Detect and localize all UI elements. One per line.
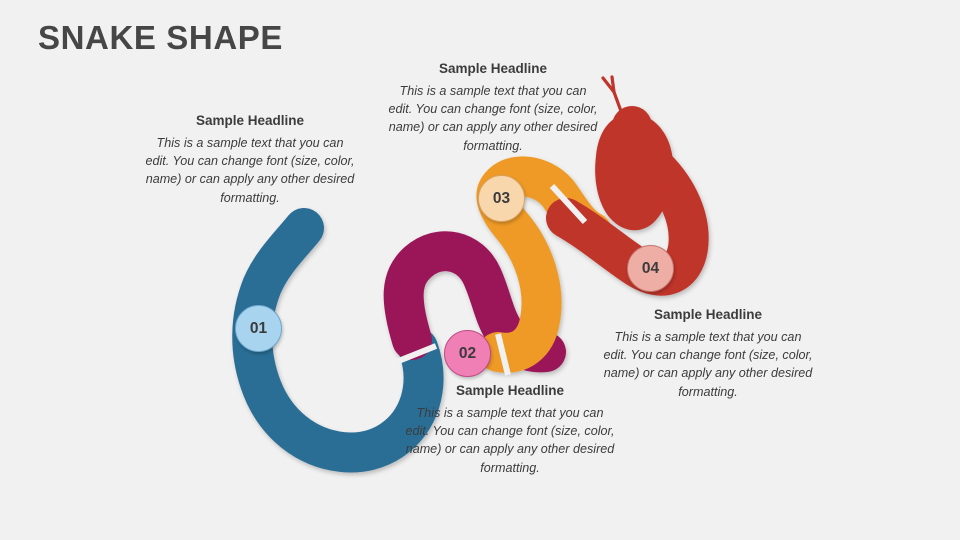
callout-2-body: This is a sample text that you can edit.…: [387, 82, 599, 155]
step-node-03[interactable]: 03: [478, 175, 525, 222]
step-node-04-label: 04: [642, 260, 659, 278]
callout-block-4: Sample Headline This is a sample text th…: [602, 307, 814, 401]
slide-canvas: SNAKE SHAPE: [0, 0, 960, 540]
callout-block-1: Sample Headline This is a sample text th…: [144, 113, 356, 207]
snake-head: [595, 113, 673, 230]
callout-3-body: This is a sample text that you can edit.…: [404, 404, 616, 477]
step-node-03-label: 03: [493, 190, 510, 208]
callout-block-3: Sample Headline This is a sample text th…: [404, 383, 616, 477]
callout-3-headline: Sample Headline: [404, 383, 616, 400]
snake-tongue: [603, 77, 622, 114]
callout-1-headline: Sample Headline: [144, 113, 356, 130]
callout-4-body: This is a sample text that you can edit.…: [602, 328, 814, 401]
step-node-04[interactable]: 04: [627, 245, 674, 292]
step-node-02[interactable]: 02: [444, 330, 491, 377]
callout-4-headline: Sample Headline: [602, 307, 814, 324]
step-node-02-label: 02: [459, 345, 476, 363]
step-node-01[interactable]: 01: [235, 305, 282, 352]
callout-1-body: This is a sample text that you can edit.…: [144, 134, 356, 207]
callout-block-2: Sample Headline This is a sample text th…: [387, 61, 599, 155]
callout-2-headline: Sample Headline: [387, 61, 599, 78]
step-node-01-label: 01: [250, 320, 267, 338]
